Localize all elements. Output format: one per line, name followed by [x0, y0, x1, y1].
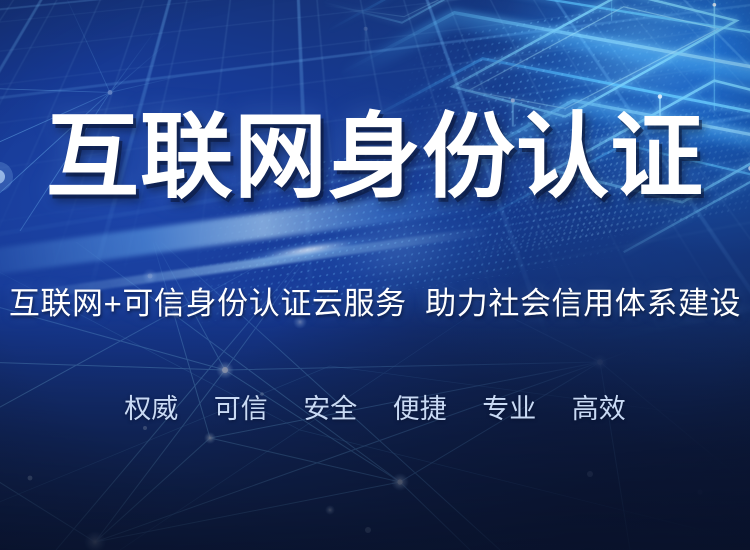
banner-keyword-list: 权威 可信 安全 便捷 专业 高效: [0, 393, 750, 425]
keyword-item-6: 高效: [572, 394, 626, 424]
keyword-item-1: 权威: [124, 394, 178, 424]
keyword-item-4: 便捷: [393, 394, 447, 424]
banner-title: 互联网身份认证: [0, 108, 750, 207]
keyword-item-3: 安全: [303, 394, 357, 424]
keyword-item-5: 专业: [482, 394, 536, 424]
banner-subtitle: 互联网+可信身份认证云服务 助力社会信用体系建设: [0, 285, 750, 322]
promo-banner: 互联网身份认证 互联网+可信身份认证云服务 助力社会信用体系建设 权威 可信 安…: [0, 0, 750, 550]
keyword-item-2: 可信: [214, 394, 268, 424]
banner-content: 互联网身份认证 互联网+可信身份认证云服务 助力社会信用体系建设 权威 可信 安…: [0, 0, 750, 550]
